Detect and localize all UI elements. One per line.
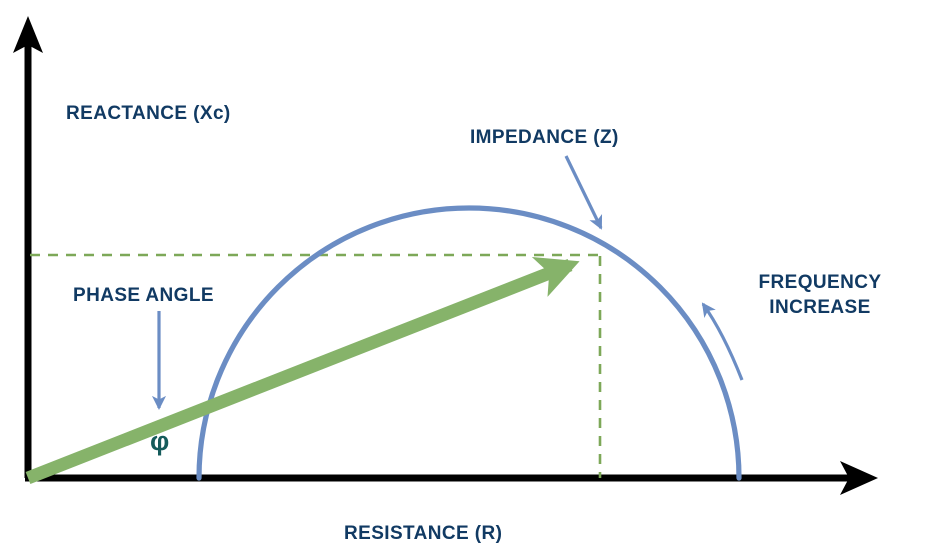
y-axis-label: REACTANCE (Xc)	[66, 103, 231, 125]
phi-symbol-label: φ	[150, 428, 169, 455]
impedance-semicircle-arc	[199, 208, 739, 478]
impedance-diagram: REACTANCE (Xc) IMPEDANCE (Z) PHASE ANGLE…	[0, 0, 940, 558]
impedance-callout-arrow	[566, 156, 601, 228]
y-axis	[13, 16, 43, 478]
impedance-label: IMPEDANCE (Z)	[470, 127, 619, 149]
x-axis	[25, 461, 878, 495]
x-axis-label: RESISTANCE (R)	[344, 523, 502, 545]
phase-angle-label: PHASE ANGLE	[73, 285, 214, 307]
frequency-increase-label: FREQUENCY INCREASE	[745, 270, 895, 320]
frequency-increase-arrow	[703, 304, 742, 380]
